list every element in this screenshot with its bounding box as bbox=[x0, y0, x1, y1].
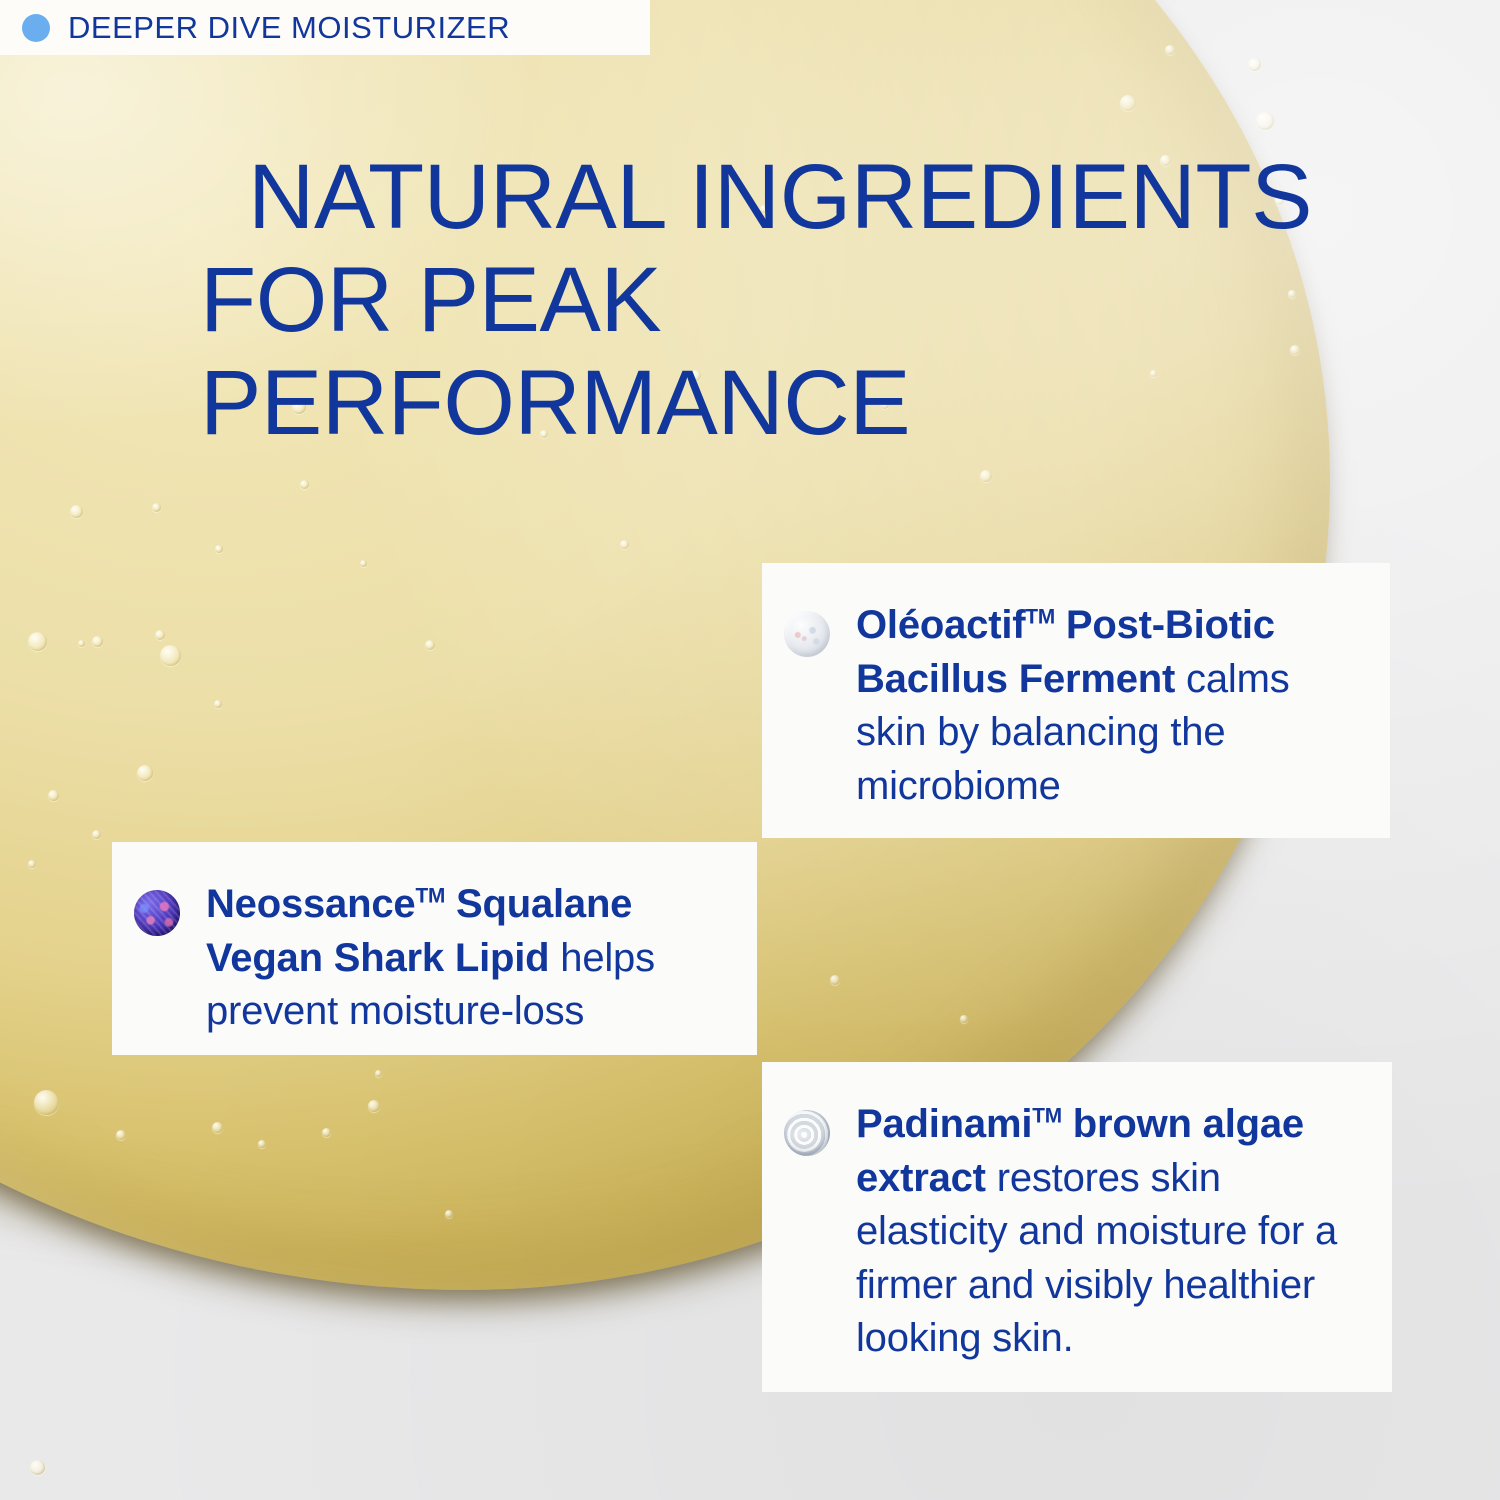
ingredient-description: OléoactifTM Post-Biotic Bacillus Ferment… bbox=[856, 599, 1356, 804]
trademark-icon: TM bbox=[1032, 1105, 1062, 1128]
eyebrow-label: DEEPER DIVE MOISTURIZER bbox=[68, 10, 510, 46]
gel-bubble bbox=[360, 560, 367, 567]
padinami-ingredient-icon bbox=[784, 1110, 830, 1156]
ingredient-name: Padinami bbox=[856, 1102, 1032, 1146]
ingredient-name: Neossance bbox=[206, 882, 415, 926]
gel-bubble bbox=[92, 830, 101, 839]
gel-bubble bbox=[28, 632, 47, 651]
gel-bubble bbox=[960, 1015, 968, 1023]
blue-dot-icon bbox=[22, 14, 50, 42]
ingredient-card-oleoactif: OléoactifTM Post-Biotic Bacillus Ferment… bbox=[762, 563, 1390, 838]
gel-bubble bbox=[155, 630, 165, 640]
gel-bubble bbox=[160, 645, 181, 666]
gel-bubble bbox=[92, 636, 103, 647]
trademark-icon: TM bbox=[1025, 606, 1055, 629]
gel-bubble bbox=[830, 975, 840, 985]
ingredient-name: Oléoactif bbox=[856, 603, 1025, 647]
gel-bubble bbox=[445, 1210, 453, 1218]
gel-bubble bbox=[70, 505, 83, 518]
gel-bubble bbox=[425, 640, 435, 650]
gel-bubble bbox=[34, 1090, 59, 1115]
gel-bubble bbox=[1165, 45, 1175, 55]
page-title: NATURAL INGREDIENTS FOR PEAK PERFORMANCE bbox=[248, 146, 1368, 455]
trademark-icon: TM bbox=[415, 885, 445, 908]
gel-bubble bbox=[214, 700, 222, 708]
gel-bubble bbox=[980, 470, 992, 482]
oleoactif-ingredient-icon bbox=[784, 611, 830, 657]
ingredient-description: NeossanceTM Squalane Vegan Shark Lipid h… bbox=[206, 878, 723, 1021]
gel-bubble bbox=[215, 545, 223, 553]
gel-bubble bbox=[212, 1122, 223, 1133]
gel-bubble bbox=[1256, 112, 1274, 130]
gel-bubble bbox=[78, 640, 85, 647]
headline-line-2: FOR PEAK PERFORMANCE bbox=[200, 249, 1368, 455]
gel-bubble bbox=[116, 1130, 126, 1140]
gel-bubble bbox=[258, 1140, 266, 1148]
neossance-ingredient-icon bbox=[134, 890, 180, 936]
gel-bubble bbox=[30, 1460, 45, 1475]
gel-bubble bbox=[1120, 95, 1136, 111]
gel-bubble bbox=[300, 480, 309, 489]
gel-bubble bbox=[322, 1128, 331, 1137]
gel-bubble bbox=[1248, 58, 1261, 71]
ingredient-card-padinami: PadinamiTM brown algae extract restores … bbox=[762, 1062, 1392, 1392]
ingredient-description: PadinamiTM brown algae extract restores … bbox=[856, 1098, 1358, 1358]
gel-bubble bbox=[368, 1100, 380, 1112]
gel-bubble bbox=[620, 540, 629, 549]
gel-bubble bbox=[137, 765, 153, 781]
ingredient-card-neossance: NeossanceTM Squalane Vegan Shark Lipid h… bbox=[112, 842, 757, 1055]
gel-bubble bbox=[152, 503, 161, 512]
eyebrow-badge: DEEPER DIVE MOISTURIZER bbox=[0, 0, 650, 55]
gel-bubble bbox=[375, 1070, 382, 1077]
gel-bubble bbox=[48, 790, 59, 801]
headline-line-1: NATURAL INGREDIENTS bbox=[248, 146, 1312, 248]
gel-bubble bbox=[28, 860, 36, 868]
